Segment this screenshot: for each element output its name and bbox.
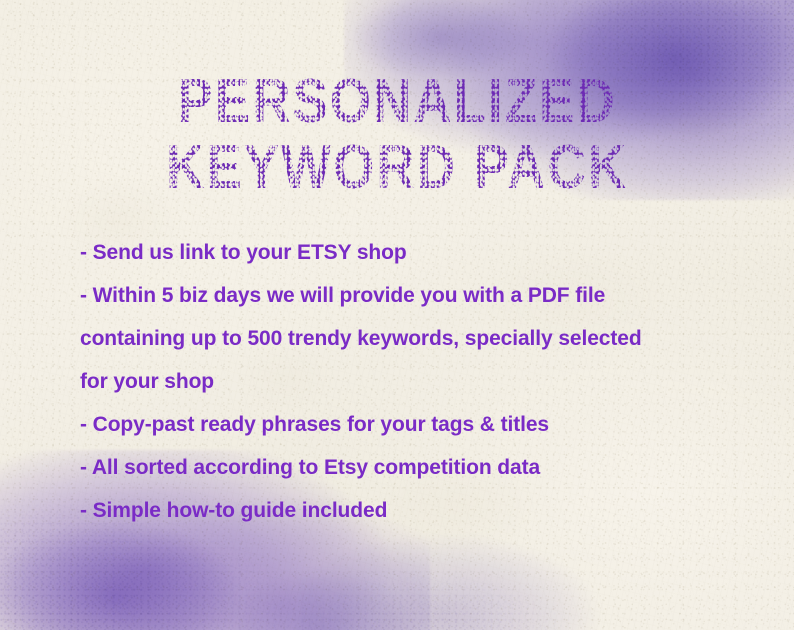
feature-list: - Send us link to your ETSY shop - Withi… [80, 231, 764, 532]
feature-line: for your shop [80, 360, 764, 403]
poster-content: PERSONALIZED KEYWORD PACK - Send us link… [0, 0, 794, 630]
title-line-two: KEYWORD PACK [0, 136, 794, 199]
feature-line: - Within 5 biz days we will provide you … [80, 274, 764, 317]
feature-line: - All sorted according to Etsy competiti… [80, 446, 764, 489]
poster-title: PERSONALIZED KEYWORD PACK [0, 70, 794, 189]
feature-line: containing up to 500 trendy keywords, sp… [80, 317, 764, 360]
title-line-one: PERSONALIZED [0, 70, 794, 133]
feature-line: - Send us link to your ETSY shop [80, 231, 764, 274]
feature-line: - Copy-past ready phrases for your tags … [80, 403, 764, 446]
poster-canvas: PERSONALIZED KEYWORD PACK - Send us link… [0, 0, 794, 630]
feature-line: - Simple how-to guide included [80, 489, 764, 532]
